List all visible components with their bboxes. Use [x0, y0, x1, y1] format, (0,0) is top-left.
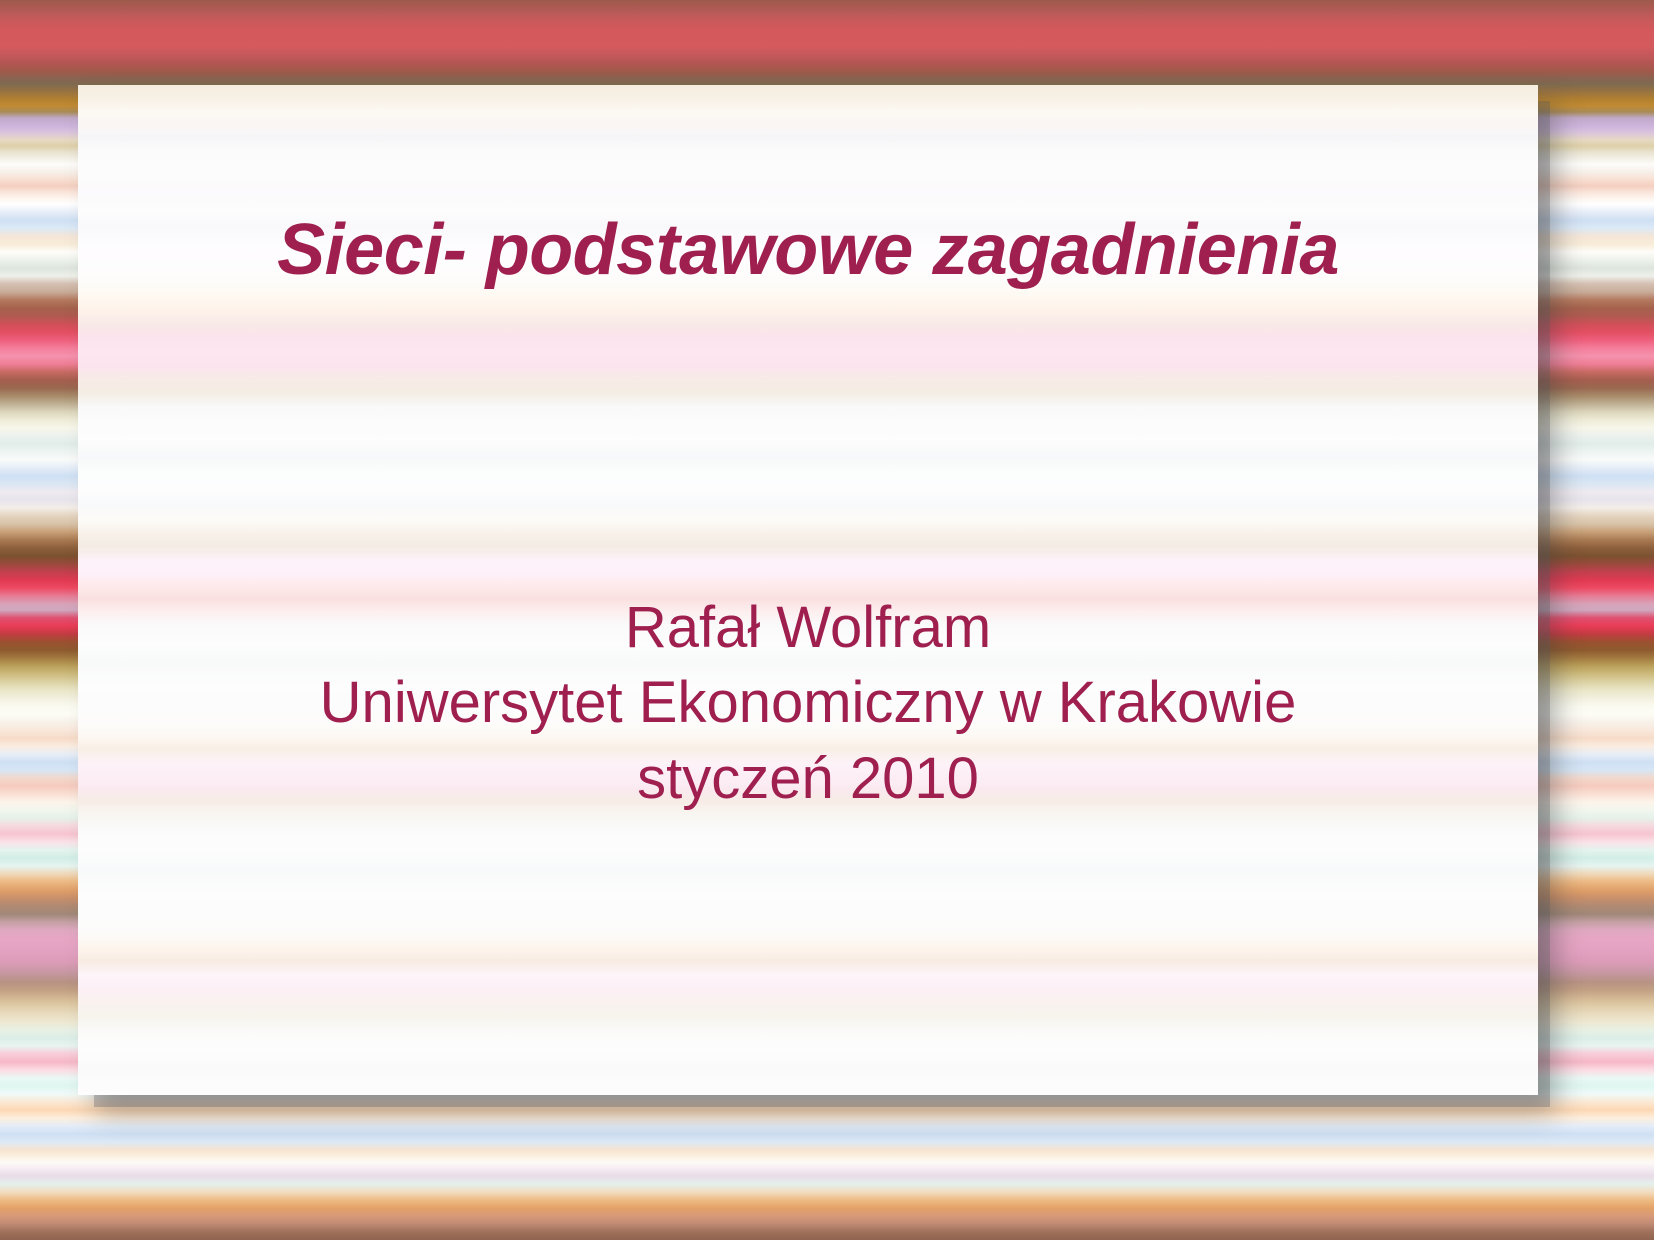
- subtitle-line-affiliation: Uniwersytet Ekonomiczny w Krakowie: [78, 665, 1538, 740]
- presentation-slide: Sieci- podstawowe zagadnienia Rafał Wolf…: [0, 0, 1654, 1240]
- slide-title: Sieci- podstawowe zagadnienia: [78, 213, 1538, 289]
- subtitle-line-author: Rafał Wolfram: [78, 590, 1538, 665]
- slide-content-card: Sieci- podstawowe zagadnienia Rafał Wolf…: [78, 85, 1538, 1095]
- slide-subtitle-block: Rafał Wolfram Uniwersytet Ekonomiczny w …: [78, 590, 1538, 816]
- subtitle-line-date: styczeń 2010: [78, 741, 1538, 816]
